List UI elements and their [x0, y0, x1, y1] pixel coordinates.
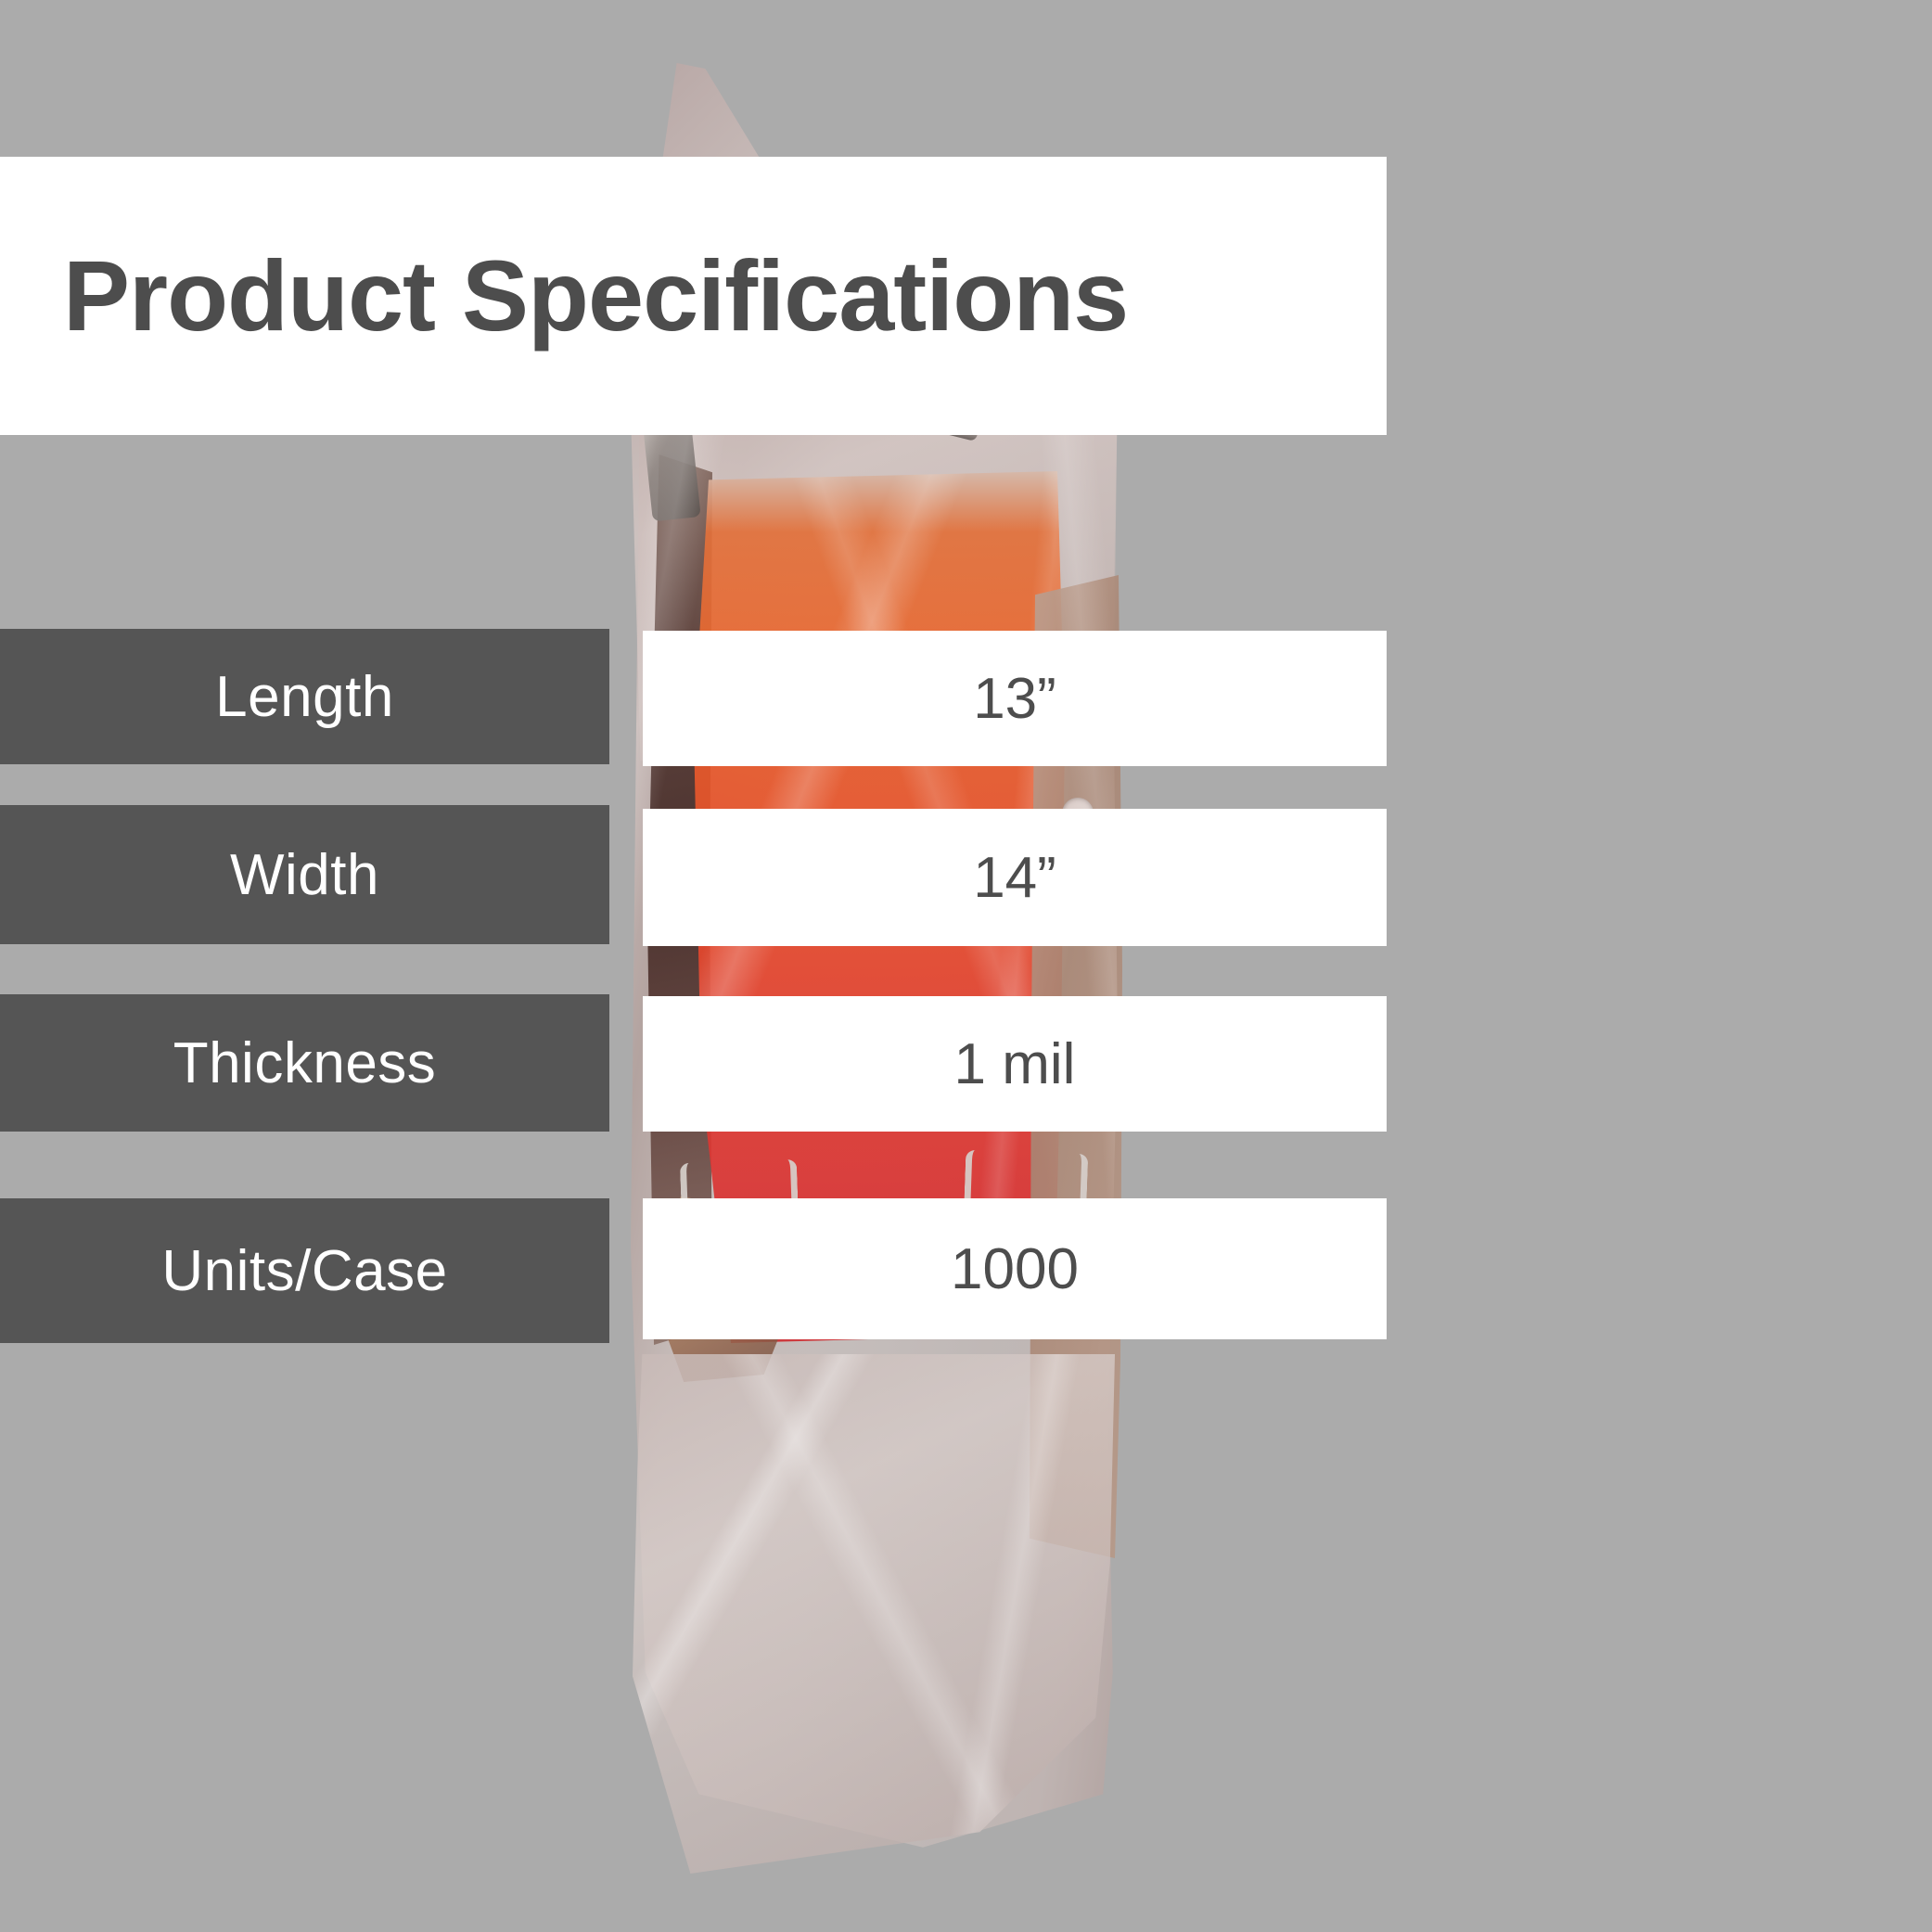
- spec-value-width: 14”: [643, 809, 1387, 946]
- spec-label-units-per-case: Units/Case: [0, 1198, 609, 1343]
- spec-row-width: Width 14”: [0, 805, 1387, 944]
- spec-label-length: Length: [0, 629, 609, 764]
- spec-label-width: Width: [0, 805, 609, 944]
- spec-value-units-per-case: 1000: [643, 1198, 1387, 1339]
- page-title: Product Specifications: [63, 246, 1128, 346]
- spec-row-thickness: Thickness 1 mil: [0, 994, 1387, 1132]
- spec-label-thickness: Thickness: [0, 994, 609, 1132]
- product-spec-card: Product Specifications Length 13” Width …: [0, 0, 1932, 1932]
- title-bar: Product Specifications: [0, 157, 1387, 435]
- spec-value-length: 13”: [643, 631, 1387, 766]
- spec-row-units-per-case: Units/Case 1000: [0, 1198, 1387, 1343]
- spec-row-length: Length 13”: [0, 629, 1387, 764]
- spec-value-thickness: 1 mil: [643, 996, 1387, 1132]
